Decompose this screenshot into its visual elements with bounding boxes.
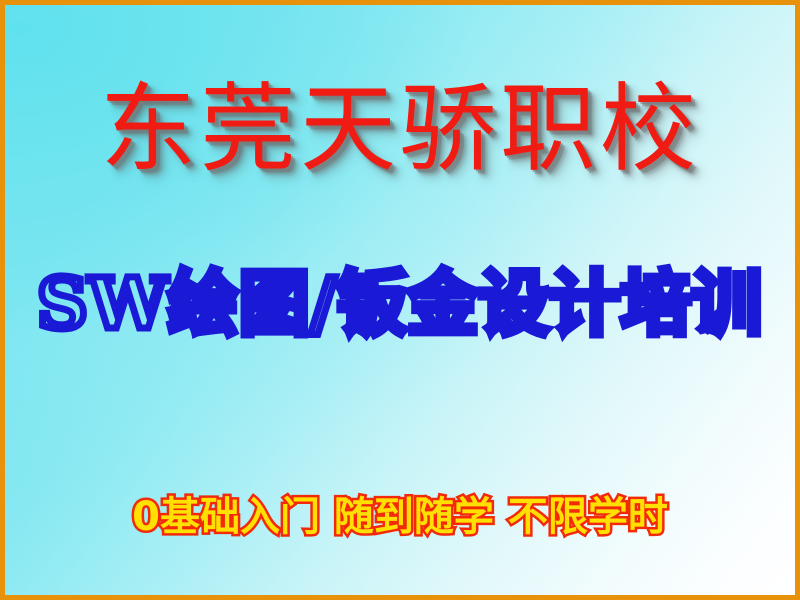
course-subtitle-fill: SW绘图/钣金设计培训 [37,262,763,345]
course-subtitle: SW绘图/钣金设计培训 SW绘图/钣金设计培训 [37,269,763,339]
subtitle-row: SW绘图/钣金设计培训 SW绘图/钣金设计培训 [5,269,795,339]
tagline: 0基础入门 随到随学 不限学时 0基础入门 随到随学 不限学时 [132,497,668,537]
tagline-row: 0基础入门 随到随学 不限学时 0基础入门 随到随学 不限学时 [5,497,795,537]
poster-content: 东莞天骄职校 SW绘图/钣金设计培训 SW绘图/钣金设计培训 0基础入门 随到随… [5,5,795,595]
tagline-fill: 0基础入门 随到随学 不限学时 [132,494,668,540]
title-row: 东莞天骄职校 [5,81,795,177]
promotional-poster: 东莞天骄职校 SW绘图/钣金设计培训 SW绘图/钣金设计培训 0基础入门 随到随… [0,0,800,600]
page-title: 东莞天骄职校 [100,81,700,177]
